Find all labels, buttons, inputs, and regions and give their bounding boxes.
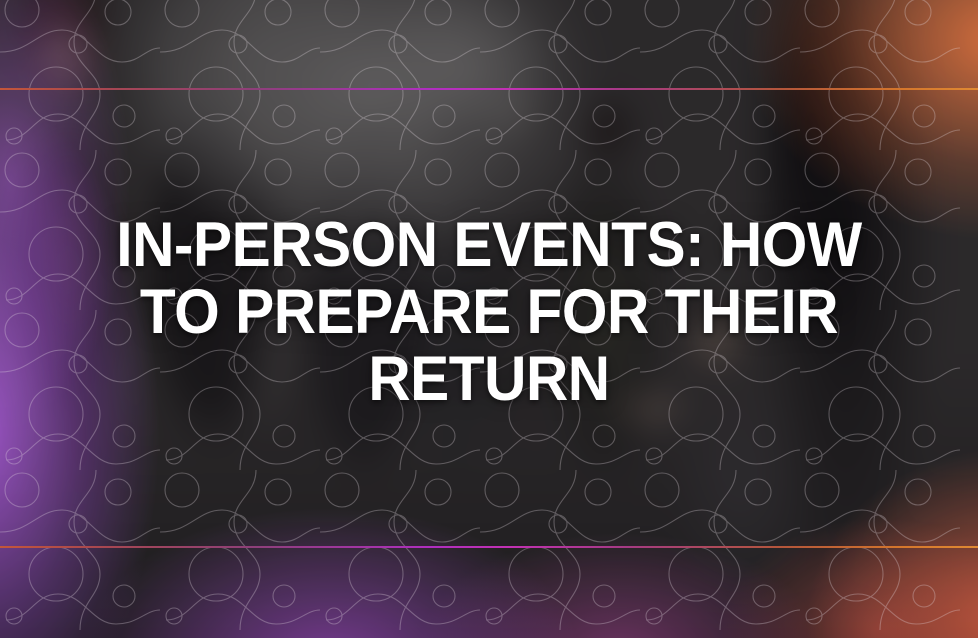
bottom-divider-rule [0, 546, 978, 548]
hero-banner: IN-PERSON EVENTS: HOW TO PREPARE FOR THE… [0, 0, 978, 638]
circle-pattern-overlay [0, 0, 978, 638]
top-divider-rule [0, 88, 978, 90]
